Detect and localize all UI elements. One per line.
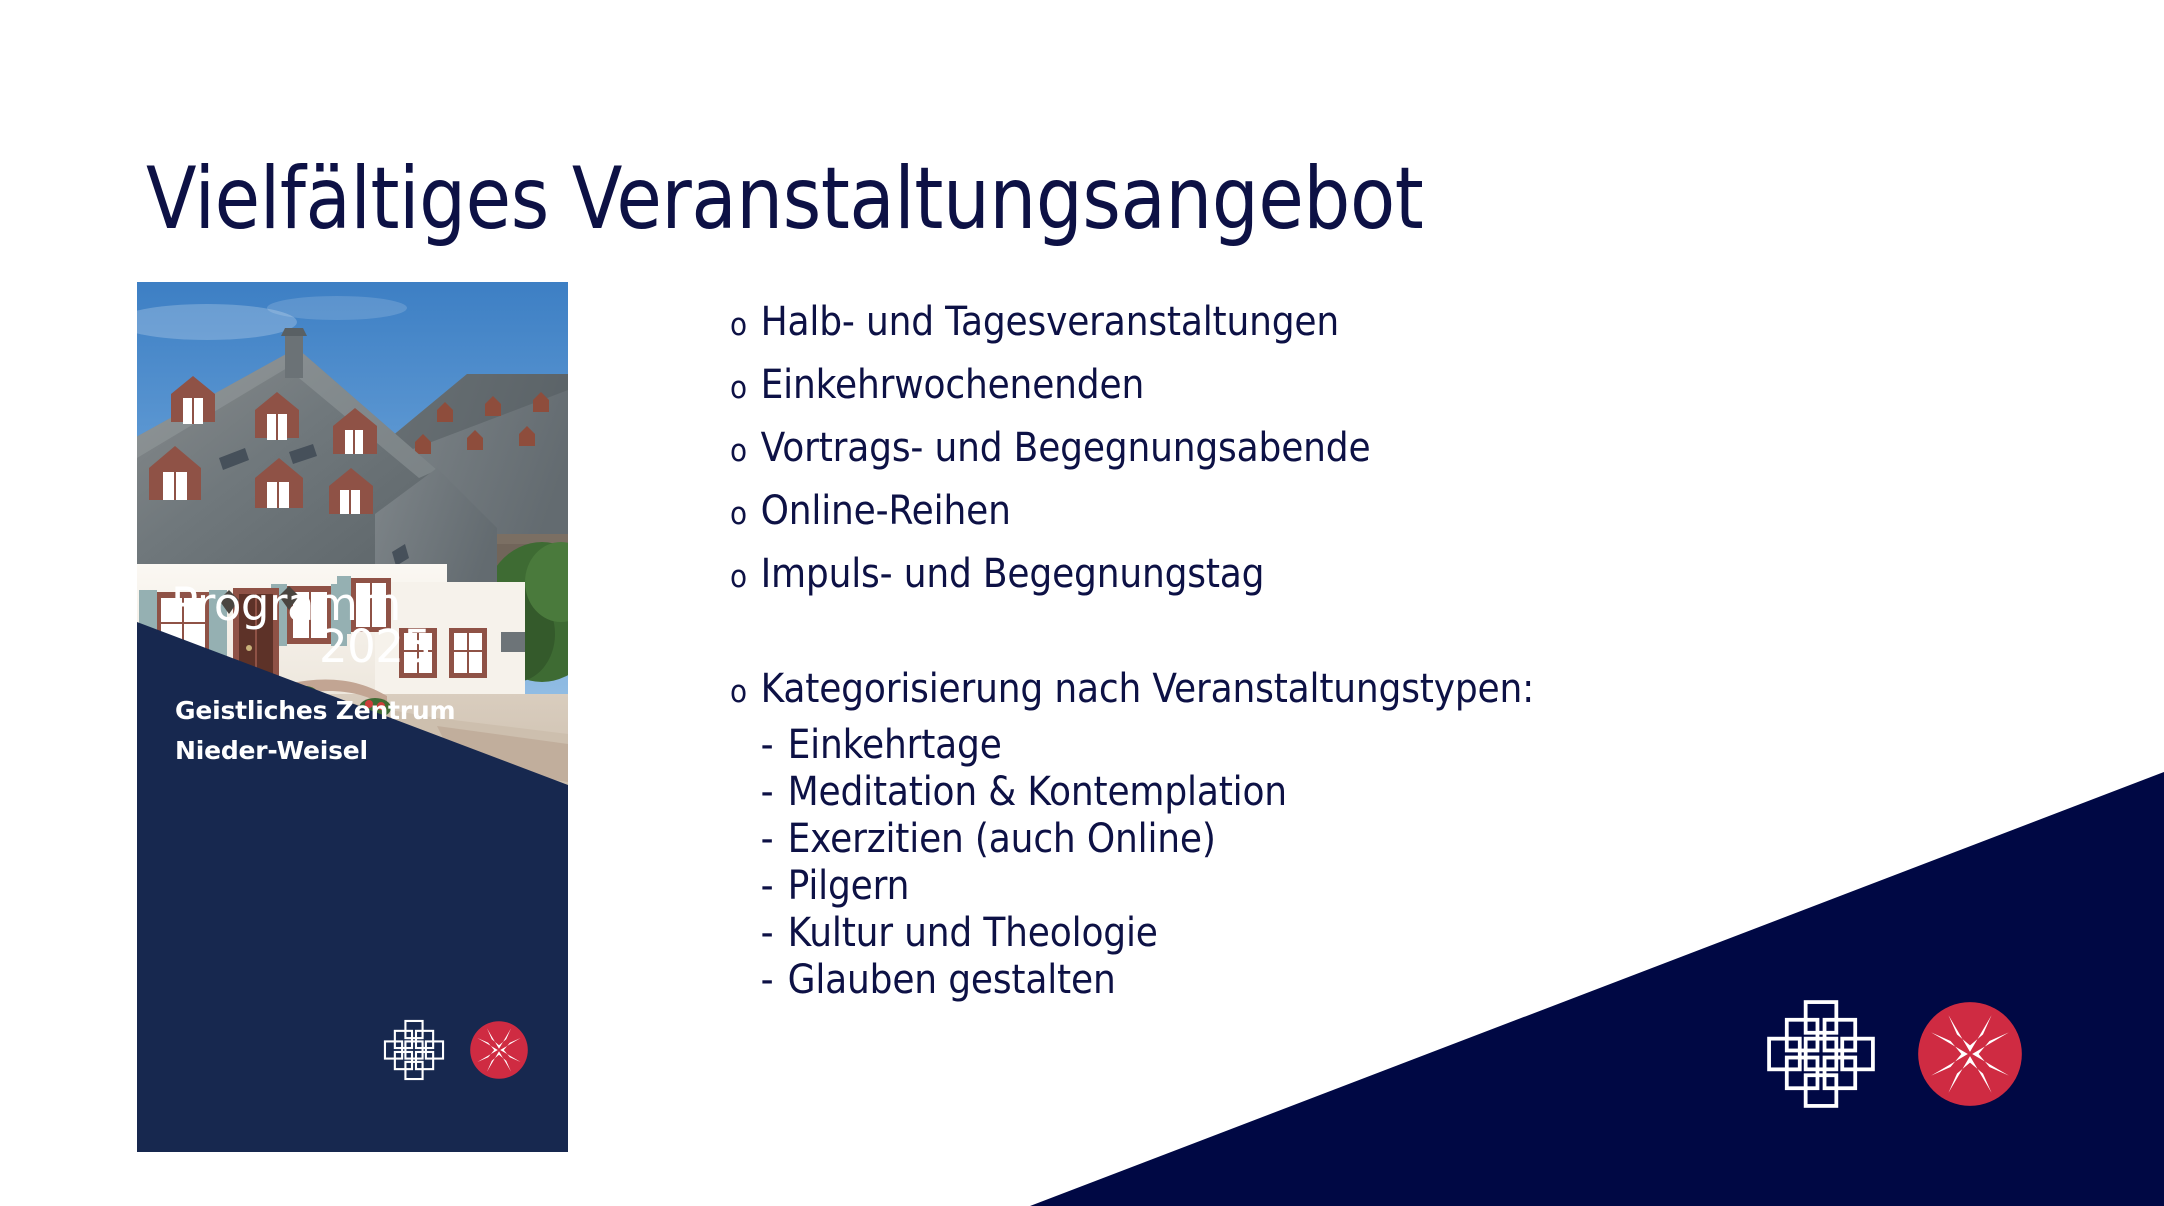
brochure-org-line-2: Nieder-Weisel <box>175 738 368 763</box>
sub-list-item-label: Kultur und Theologie <box>788 910 1158 957</box>
maltese-cross-icon <box>469 1020 529 1080</box>
sub-list-item-label: Exerzitien (auch Online) <box>788 816 1216 863</box>
brochure-logo-group <box>381 1017 529 1083</box>
event-offer-list: o Halb- und Tagesveranstaltungen o Einke… <box>730 292 2060 1004</box>
johanniter-square-cross-icon <box>381 1017 447 1083</box>
sub-list-item-label: Glauben gestalten <box>788 957 1116 1004</box>
list-item: o Kategorisierung nach Veranstaltungstyp… <box>730 659 1927 722</box>
brochure-org-line-1: Geistliches Zentrum <box>175 698 455 723</box>
sub-list-item: - Kultur und Theologie <box>730 910 1927 957</box>
bullet-marker-icon: o <box>730 358 761 418</box>
maltese-cross-icon <box>1916 1000 2024 1108</box>
brochure-year: 2025 <box>319 624 432 669</box>
footer-logo-group <box>1762 995 2024 1113</box>
category-list: o Kategorisierung nach Veranstaltungstyp… <box>730 659 2060 1004</box>
bullet-marker-icon: o <box>730 421 761 481</box>
list-item-label: Impuls- und Begegnungstag <box>761 544 1265 604</box>
list-item: o Impuls- und Begegnungstag <box>730 544 1927 607</box>
list-item: o Einkehrwochenenden <box>730 355 1927 418</box>
list-item-label: Vortrags- und Begegnungsabende <box>761 418 1371 478</box>
sub-list-item: - Einkehrtage <box>730 722 1927 769</box>
dash-marker-icon: - <box>761 910 788 957</box>
category-heading-label: Kategorisierung nach Veranstaltungstypen… <box>761 659 1534 719</box>
johanniter-square-cross-icon <box>1762 995 1880 1113</box>
bullet-marker-icon: o <box>730 295 761 355</box>
sub-list-item-label: Pilgern <box>788 863 910 910</box>
list-item: o Halb- und Tagesveranstaltungen <box>730 292 1927 355</box>
bullet-marker-icon: o <box>730 484 761 544</box>
dash-marker-icon: - <box>761 722 788 769</box>
list-item: o Vortrags- und Begegnungsabende <box>730 418 1927 481</box>
brochure-cover-card: Programm 2025 Geistliches Zentrum Nieder… <box>137 282 568 1152</box>
dash-marker-icon: - <box>761 957 788 1004</box>
slide-canvas: Vielfältiges Veranstaltungsangebot <box>0 0 2164 1206</box>
sub-list-item: - Pilgern <box>730 863 1927 910</box>
page-title: Vielfältiges Veranstaltungsangebot <box>146 154 1780 244</box>
bullet-marker-icon: o <box>730 662 761 722</box>
sub-list-item: - Exerzitien (auch Online) <box>730 816 1927 863</box>
sub-list-item: - Glauben gestalten <box>730 957 1927 1004</box>
dash-marker-icon: - <box>761 863 788 910</box>
list-item: o Online-Reihen <box>730 481 1927 544</box>
list-item-label: Online-Reihen <box>761 481 1011 541</box>
dash-marker-icon: - <box>761 816 788 863</box>
sub-list-item-label: Meditation & Kontemplation <box>788 769 1287 816</box>
bullet-marker-icon: o <box>730 547 761 607</box>
sub-list-item: - Meditation & Kontemplation <box>730 769 1927 816</box>
list-spacer <box>730 607 2060 659</box>
list-item-label: Einkehrwochenenden <box>761 355 1144 415</box>
list-item-label: Halb- und Tagesveranstaltungen <box>761 292 1339 352</box>
sub-list-item-label: Einkehrtage <box>788 722 1002 769</box>
dash-marker-icon: - <box>761 769 788 816</box>
primary-bullet-list: o Halb- und Tagesveranstaltungen o Einke… <box>730 292 2060 607</box>
